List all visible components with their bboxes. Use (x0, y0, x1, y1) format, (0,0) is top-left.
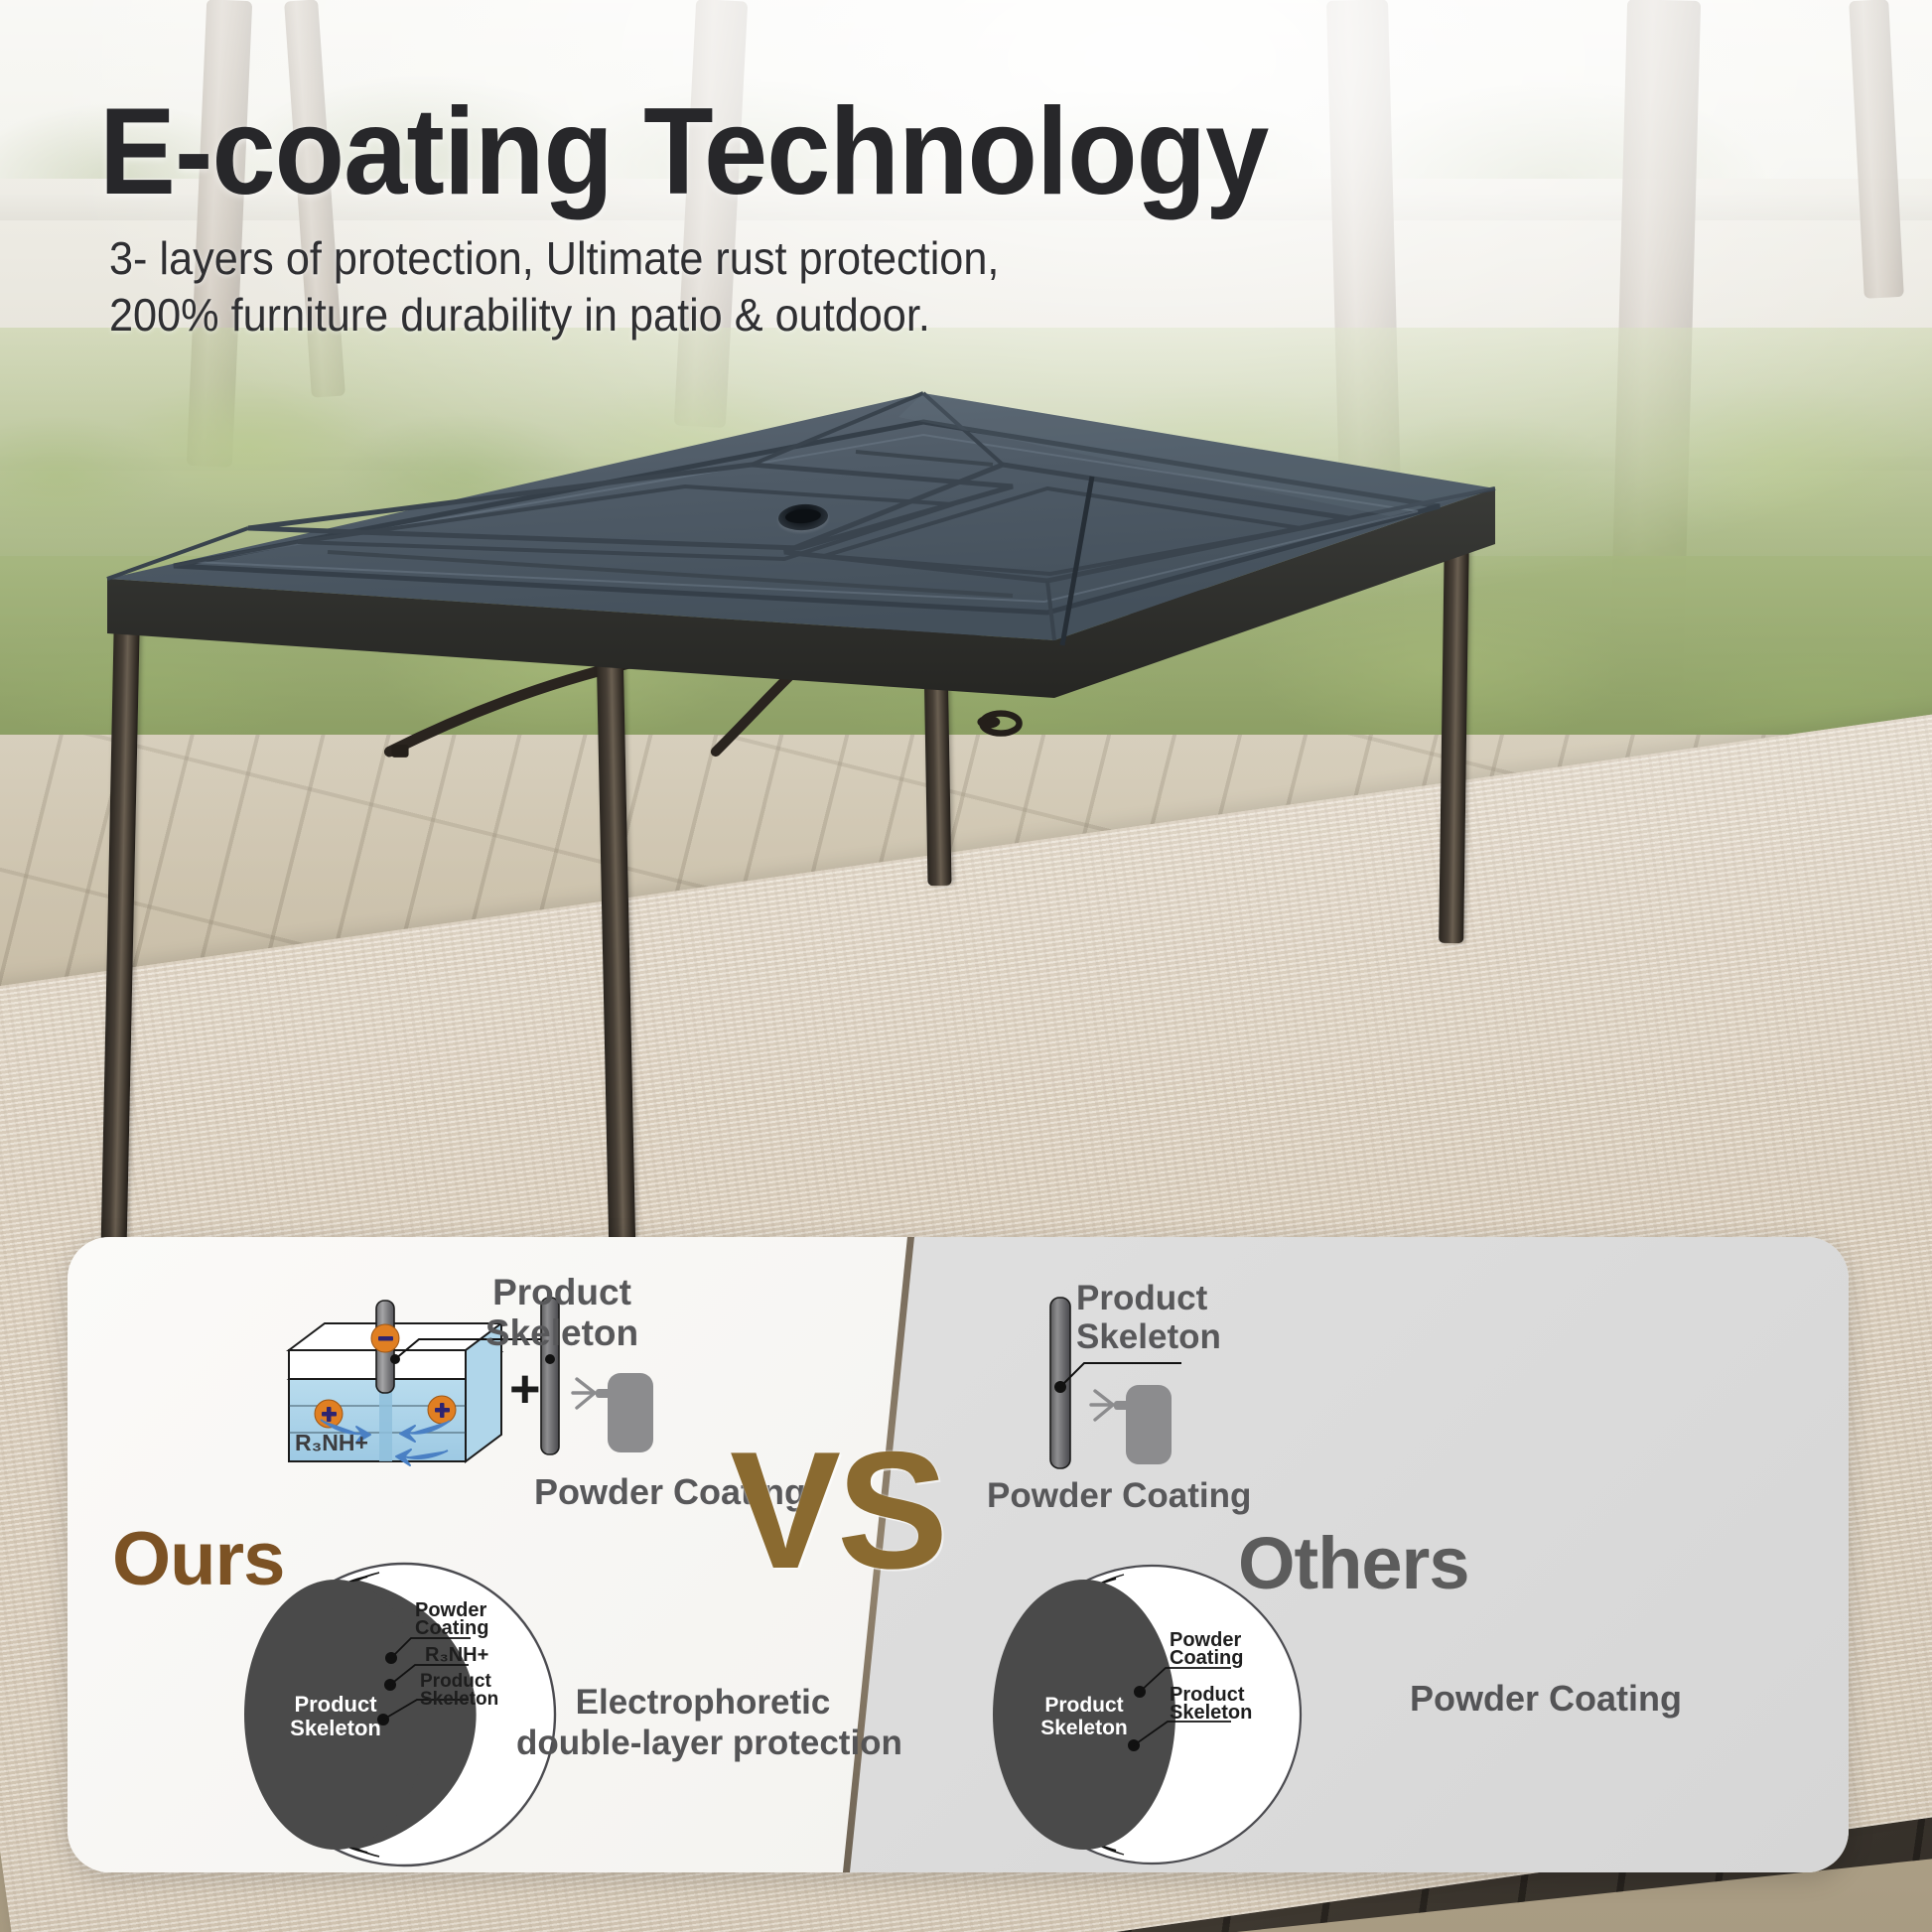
core-label-line-1: Product (1044, 1694, 1123, 1717)
core-label-line-2: Skeleton (1040, 1717, 1128, 1739)
caption-line-2: double-layer protection (516, 1723, 852, 1763)
vs-label: VS (730, 1415, 944, 1606)
label-line-2: Skeleton (453, 1312, 671, 1353)
label-line-1: Product (453, 1272, 671, 1312)
ours-product-skeleton-label: Product Skeleton (453, 1272, 671, 1354)
layer1-label-line-2: Coating (1170, 1647, 1243, 1669)
label-line-2: Skeleton (1076, 1317, 1221, 1356)
layer2-label-line-2: Skeleton (1170, 1702, 1252, 1724)
plus-sign: + (509, 1359, 541, 1419)
others-powder-coating-label: Powder Coating (987, 1476, 1251, 1516)
infographic-canvas: E-coating Technology 3- layers of protec… (0, 0, 1932, 1932)
layer1-label-line-2: Coating (415, 1617, 488, 1639)
ours-caption: Electrophoretic double-layer protection (554, 1682, 852, 1764)
layer3-label-line-2: Skeleton (420, 1689, 498, 1710)
others-product-skeleton-label: Product Skeleton (1076, 1279, 1221, 1356)
label-line-1: Product (1076, 1279, 1221, 1317)
page-title: E-coating Technology (99, 81, 1268, 222)
page-subtitle: 3- layers of protection, Ultimate rust p… (109, 230, 999, 344)
layer2-label: R₃NH+ (425, 1644, 488, 1666)
core-label-line-1: Product (294, 1692, 377, 1717)
core-label-line-2: Skeleton (290, 1716, 381, 1740)
others-cross-section-diagram: Product Skeleton Powder Coating Product … (993, 1561, 1311, 1868)
others-caption: Powder Coating (1410, 1678, 1682, 1720)
subtitle-line-1: 3- layers of protection, Ultimate rust p… (109, 230, 999, 287)
caption-line-1: Electrophoretic (554, 1682, 852, 1723)
ours-cross-section-diagram: Product Skeleton Powder Coating R₃NH+ Pr… (240, 1561, 568, 1868)
subtitle-line-2: 200% furniture durability in patio & out… (109, 287, 999, 344)
electrolyte-label: R₃NH+ (295, 1430, 368, 1455)
